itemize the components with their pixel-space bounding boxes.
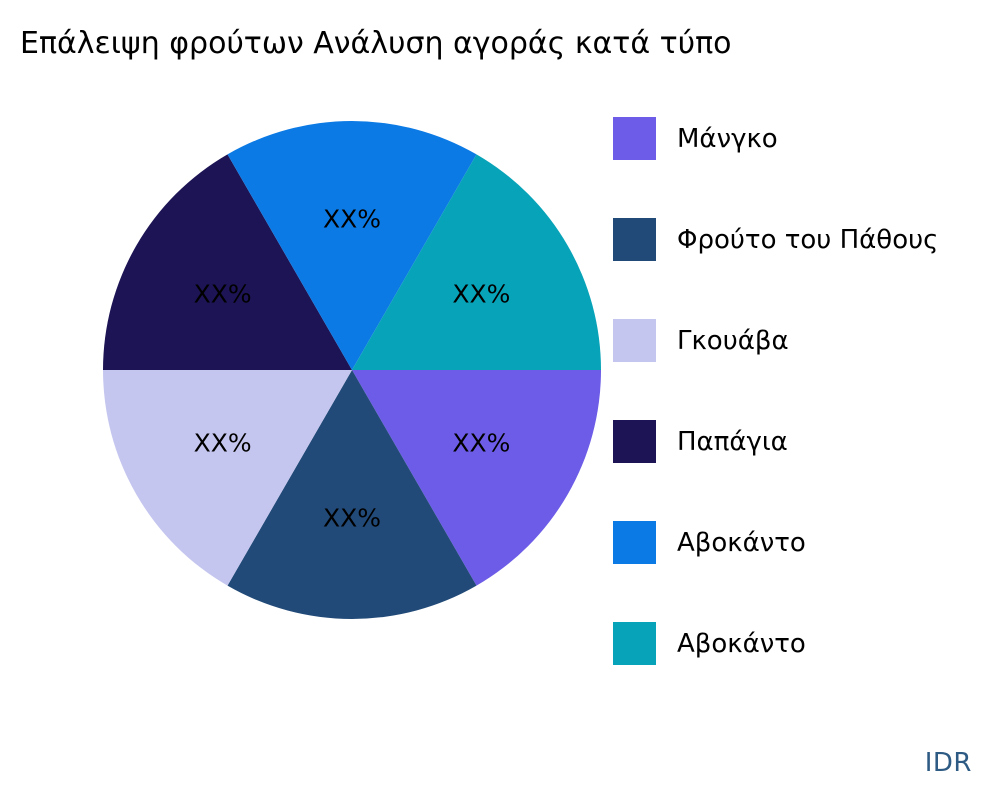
pie-slice-label: XX% bbox=[452, 279, 510, 308]
pie-slice-label: XX% bbox=[194, 429, 252, 458]
pie-slice-label: XX% bbox=[323, 205, 381, 234]
legend-color-swatch bbox=[613, 420, 656, 463]
pie-chart: XX%XX%XX%XX%XX%XX% bbox=[103, 121, 601, 619]
pie-chart-svg: XX%XX%XX%XX%XX%XX% bbox=[103, 121, 601, 619]
legend-item-label: Αβοκάντο bbox=[677, 522, 806, 565]
legend-item-label: Φρούτο του Πάθους bbox=[677, 219, 938, 262]
pie-slice-label: XX% bbox=[323, 503, 381, 532]
legend-item-label: Μάνγκο bbox=[677, 118, 778, 161]
pie-slice-label: XX% bbox=[452, 429, 510, 458]
legend-item[interactable]: Αβοκάντο bbox=[613, 617, 1000, 718]
pie-slice-group bbox=[103, 121, 601, 619]
legend: ΜάνγκοΦρούτο του ΠάθουςΓκουάβαΠαπάγιαΑβο… bbox=[613, 112, 1000, 718]
chart-title: Επάλειψη φρούτων Ανάλυση αγοράς κατά τύπ… bbox=[20, 24, 970, 64]
legend-color-swatch bbox=[613, 319, 656, 362]
legend-item[interactable]: Φρούτο του Πάθους bbox=[613, 213, 1000, 314]
legend-color-swatch bbox=[613, 117, 656, 160]
legend-item[interactable]: Παπάγια bbox=[613, 415, 1000, 516]
pie-slice-label: XX% bbox=[194, 279, 252, 308]
legend-item[interactable]: Γκουάβα bbox=[613, 314, 1000, 415]
legend-item[interactable]: Αβοκάντο bbox=[613, 516, 1000, 617]
legend-item[interactable]: Μάνγκο bbox=[613, 112, 1000, 213]
legend-item-label: Αβοκάντο bbox=[677, 623, 806, 666]
legend-item-label: Γκουάβα bbox=[677, 320, 789, 363]
legend-color-swatch bbox=[613, 521, 656, 564]
legend-color-swatch bbox=[613, 218, 656, 261]
legend-item-label: Παπάγια bbox=[677, 421, 788, 464]
watermark-idr: IDR bbox=[925, 748, 972, 778]
legend-color-swatch bbox=[613, 622, 656, 665]
